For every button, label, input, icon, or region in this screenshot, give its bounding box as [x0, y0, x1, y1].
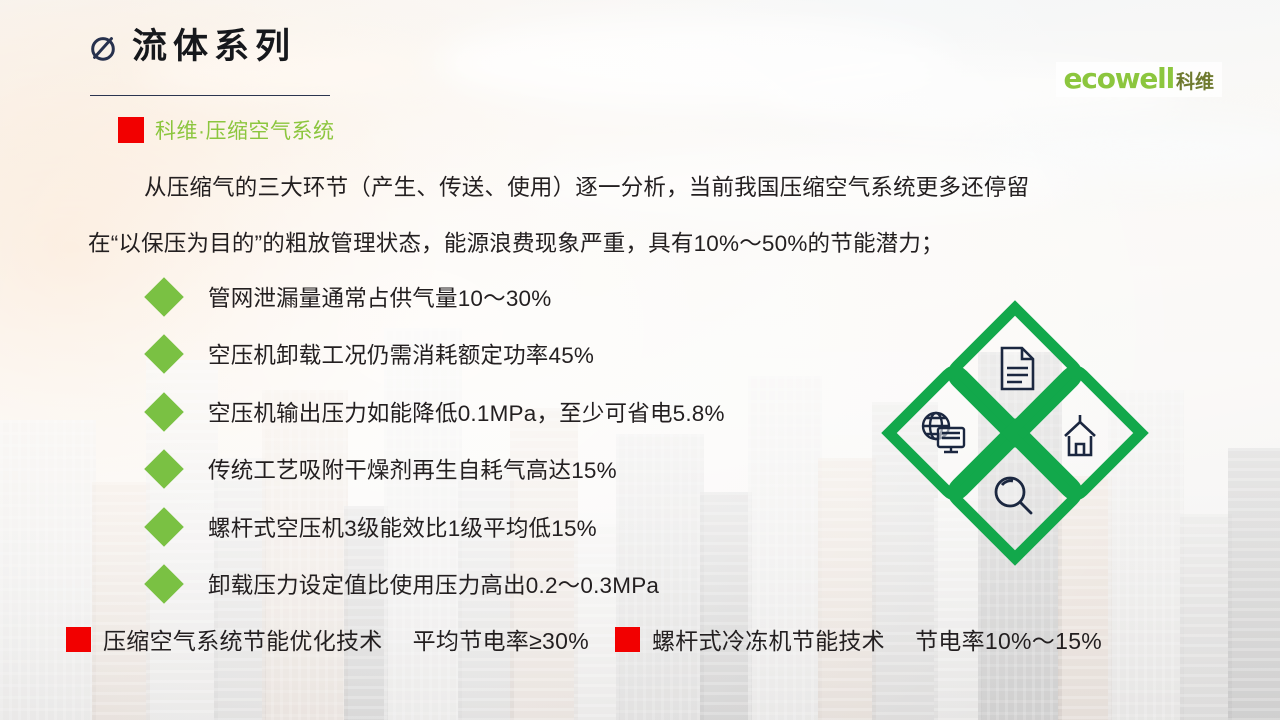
- footer-item: 螺杆式冷冻机节能技术 节电率10%～15%: [615, 622, 1102, 656]
- red-square-bullet-icon: [66, 627, 91, 652]
- red-square-bullet-icon: [118, 117, 144, 143]
- slide-canvas: 流体系列 ecowell 科维 科维·压缩空气系统 从压缩气的三大环节（产生、传…: [0, 0, 1280, 720]
- globe-monitor-icon: [923, 413, 964, 452]
- list-item-label: 空压机卸载工况仍需消耗额定功率45%: [208, 338, 594, 370]
- list-item: 螺杆式空压机3级能效比1级平均低15%: [150, 498, 725, 556]
- footer-item-label: 压缩空气系统节能优化技术: [103, 622, 383, 656]
- house-icon: [1065, 415, 1095, 455]
- list-item: 管网泄漏量通常占供气量10～30%: [150, 268, 725, 326]
- list-item-label: 管网泄漏量通常占供气量10～30%: [208, 281, 551, 313]
- slide-content: 流体系列 ecowell 科维 科维·压缩空气系统 从压缩气的三大环节（产生、传…: [0, 0, 1280, 720]
- footer-item-label: 螺杆式冷冻机节能技术: [652, 622, 885, 656]
- brand-logo: ecowell 科维: [1056, 62, 1223, 97]
- intro-paragraph: 从压缩气的三大环节（产生、传送、使用）逐一分析，当前我国压缩空气系统更多还停留 …: [88, 160, 1218, 272]
- slide-title-row: 流体系列: [88, 30, 296, 65]
- green-diamond-bullet-icon: [144, 449, 184, 489]
- section-heading-label: 科维·压缩空气系统: [155, 115, 335, 145]
- footer-item: 压缩空气系统节能优化技术 平均节电率≥30%: [66, 622, 589, 656]
- list-item-label: 空压机输出压力如能降低0.1MPa，至少可省电5.8%: [208, 396, 725, 428]
- green-diamond-bullet-icon: [144, 392, 184, 432]
- list-item: 传统工艺吸附干燥剂再生自耗气高达15%: [150, 441, 725, 499]
- green-diamond-bullet-icon: [144, 507, 184, 547]
- list-item: 空压机输出压力如能降低0.1MPa，至少可省电5.8%: [150, 383, 725, 441]
- list-item: 空压机卸载工况仍需消耗额定功率45%: [150, 326, 725, 384]
- list-item-label: 传统工艺吸附干燥剂再生自耗气高达15%: [208, 453, 617, 485]
- paragraph-line: 在“以保压为目的”的粗放管理状态，能源浪费现象严重，具有10%～50%的节能潜力…: [88, 216, 1218, 272]
- bullet-list: 管网泄漏量通常占供气量10～30% 空压机卸载工况仍需消耗额定功率45% 空压机…: [150, 268, 725, 613]
- magnifier-icon: [996, 478, 1031, 513]
- diameter-slash-icon: [88, 33, 118, 63]
- paragraph-line: 从压缩气的三大环节（产生、传送、使用）逐一分析，当前我国压缩空气系统更多还停留: [88, 160, 1218, 216]
- footer-item-metric: 节电率10%～15%: [915, 622, 1102, 656]
- document-icon: [1002, 348, 1033, 389]
- brand-logo-chinese: 科维: [1176, 73, 1214, 92]
- list-item-label: 螺杆式空压机3级能效比1级平均低15%: [208, 511, 597, 543]
- footer-highlights: 压缩空气系统节能优化技术 平均节电率≥30% 螺杆式冷冻机节能技术 节电率10%…: [66, 622, 1266, 656]
- green-diamond-bullet-icon: [144, 277, 184, 317]
- green-diamond-bullet-icon: [144, 564, 184, 604]
- footer-item-metric: 平均节电率≥30%: [413, 622, 589, 656]
- brand-logo-latin: ecowell: [1064, 65, 1174, 93]
- red-square-bullet-icon: [615, 627, 640, 652]
- page-title: 流体系列: [132, 30, 296, 65]
- section-heading: 科维·压缩空气系统: [118, 115, 335, 145]
- list-item: 卸载压力设定值比使用压力高出0.2～0.3MPa: [150, 556, 725, 614]
- green-diamond-bullet-icon: [144, 334, 184, 374]
- four-petal-diamond-cluster: [885, 302, 1145, 564]
- list-item-label: 卸载压力设定值比使用压力高出0.2～0.3MPa: [208, 568, 659, 600]
- title-divider: [90, 95, 330, 96]
